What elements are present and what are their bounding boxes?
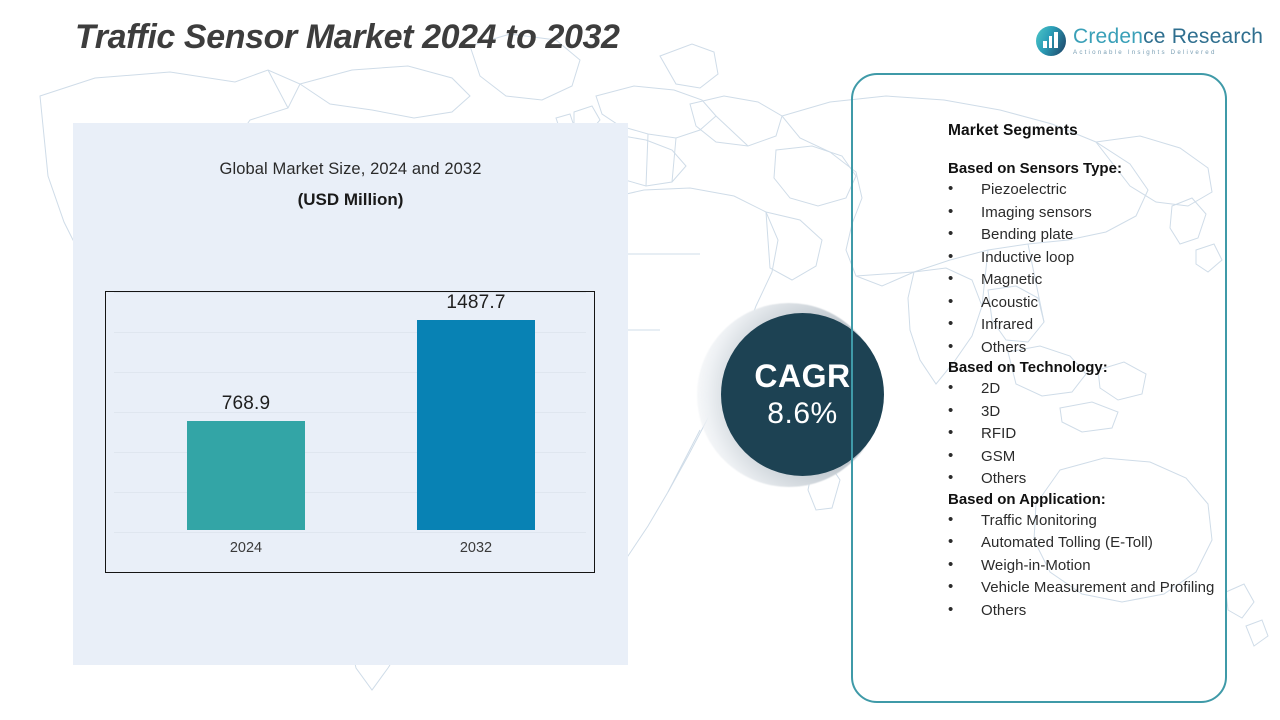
brand-name: Credence Research	[1073, 26, 1263, 47]
segment-group: Based on Technology:2D3DRFIDGSMOthers	[948, 359, 1248, 491]
bar-series: 768.91487.7	[106, 292, 594, 530]
page-title: Traffic Sensor Market 2024 to 2032	[75, 18, 620, 57]
segment-item: Others	[948, 337, 1248, 360]
segment-item: Infrared	[948, 314, 1248, 337]
segment-group-heading: Based on Sensors Type:	[948, 160, 1248, 177]
market-segments-content: Market Segments Based on Sensors Type:Pi…	[948, 122, 1248, 622]
plot-area: 768.91487.7	[106, 292, 594, 530]
segment-item: 2D	[948, 378, 1248, 401]
segment-item: Weigh-in-Motion	[948, 555, 1248, 578]
segment-item: Imaging sensors	[948, 202, 1248, 225]
infographic-canvas: Traffic Sensor Market 2024 to 2032 Crede…	[0, 0, 1280, 720]
bar-chart: 768.91487.7 20242032	[105, 291, 595, 573]
segment-groups: Based on Sensors Type:PiezoelectricImagi…	[948, 160, 1248, 622]
cagr-value: 8.6%	[767, 397, 837, 431]
bar-chart-circle-icon	[1036, 26, 1066, 56]
segment-item: Others	[948, 600, 1248, 623]
segment-item: Others	[948, 468, 1248, 491]
segment-item: Piezoelectric	[948, 179, 1248, 202]
segment-item: Magnetic	[948, 269, 1248, 292]
bar-2032	[417, 320, 535, 530]
segment-group-heading: Based on Technology:	[948, 359, 1248, 376]
segment-item: RFID	[948, 423, 1248, 446]
segment-item-list: PiezoelectricImaging sensorsBending plat…	[948, 179, 1248, 359]
x-axis-label: 2024	[176, 540, 316, 556]
segment-item: Vehicle Measurement and Profiling	[948, 577, 1248, 600]
segment-item: GSM	[948, 446, 1248, 469]
segment-item: Traffic Monitoring	[948, 510, 1248, 533]
brand-tagline: Actionable Insights Delivered	[1073, 50, 1263, 56]
bar-value-label: 768.9	[176, 393, 316, 415]
chart-title-line1: Global Market Size, 2024 and 2032	[73, 160, 628, 179]
segment-item: Automated Tolling (E-Toll)	[948, 532, 1248, 555]
chart-title-line2: (USD Million)	[73, 190, 628, 210]
cagr-label: CAGR	[754, 358, 850, 395]
segment-group: Based on Application:Traffic MonitoringA…	[948, 491, 1248, 623]
gridline	[114, 532, 586, 533]
x-axis-label: 2032	[406, 540, 546, 556]
chart-title-block: Global Market Size, 2024 and 2032 (USD M…	[73, 160, 628, 210]
segment-group: Based on Sensors Type:PiezoelectricImagi…	[948, 160, 1248, 359]
segment-item: Bending plate	[948, 224, 1248, 247]
segment-group-heading: Based on Application:	[948, 491, 1248, 508]
segments-title: Market Segments	[948, 122, 1248, 140]
bar-value-label: 1487.7	[406, 292, 546, 314]
segment-item-list: Traffic MonitoringAutomated Tolling (E-T…	[948, 510, 1248, 623]
segment-item: Acoustic	[948, 292, 1248, 315]
segment-item: Inductive loop	[948, 247, 1248, 270]
brand-logo: Credence Research Actionable Insights De…	[1036, 26, 1263, 56]
segment-item-list: 2D3DRFIDGSMOthers	[948, 378, 1248, 491]
bar-2024	[187, 421, 305, 530]
segment-item: 3D	[948, 401, 1248, 424]
